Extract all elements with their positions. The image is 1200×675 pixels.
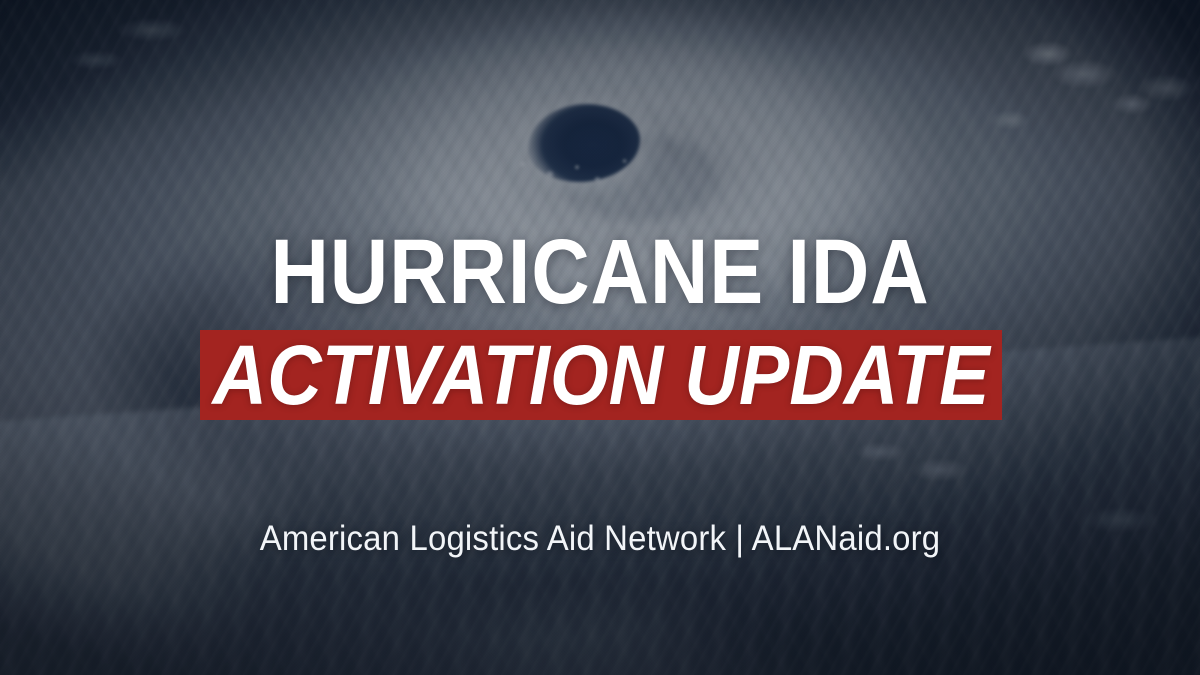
poster-content: HURRICANE IDA ACTIVATION UPDATE American… xyxy=(0,0,1200,675)
organization-tagline: American Logistics Aid Network | ALANaid… xyxy=(36,518,1164,560)
page-title: HURRICANE IDA xyxy=(72,228,1128,316)
banner-label: ACTIVATION UPDATE xyxy=(240,330,962,420)
hurricane-ida-poster: HURRICANE IDA ACTIVATION UPDATE American… xyxy=(0,0,1200,675)
banner: ACTIVATION UPDATE xyxy=(200,330,1002,420)
